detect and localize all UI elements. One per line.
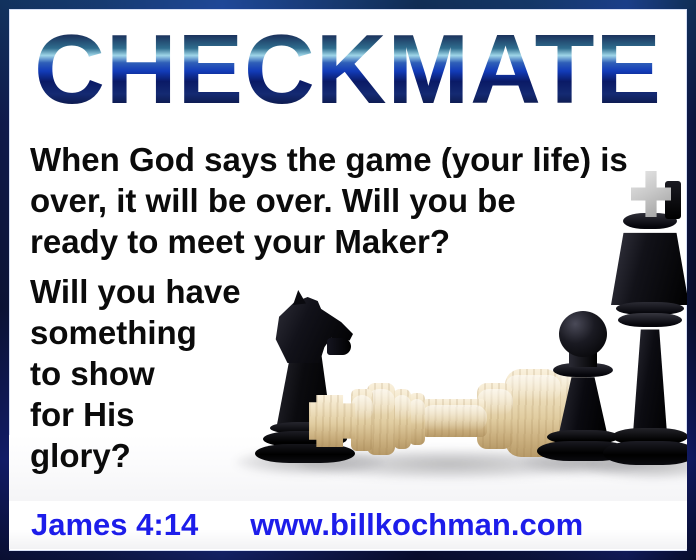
body-line: Will you have [30, 271, 280, 312]
knight-ear [293, 290, 306, 305]
fallen-king-stem [421, 399, 487, 437]
footer-bar: James 4:14 www.billkochman.com [9, 501, 687, 549]
fallen-king-ring-one [393, 389, 411, 449]
king-ring [618, 313, 682, 327]
fallen-king-bell [505, 369, 561, 457]
pawn-body [559, 371, 607, 433]
king-crown-shadow [665, 181, 681, 219]
knight-head [269, 297, 353, 363]
king-bell [611, 223, 687, 305]
pawn-base-upper [547, 430, 619, 444]
body-paragraph-wide: When God says the game (your life) is ov… [30, 139, 590, 262]
website-link[interactable]: www.billkochman.com [250, 507, 583, 543]
body-line: When God says the game (your life) is [30, 139, 590, 180]
knight-muzzle [327, 338, 351, 355]
body-line: something [30, 312, 280, 353]
pawn-neck [569, 351, 597, 367]
king-base [603, 441, 687, 465]
title-container: CHECKMATE [9, 17, 687, 121]
fallen-king-base [309, 395, 355, 447]
fallen-king-shadow [299, 449, 599, 479]
black-king-piece [603, 165, 687, 465]
body-line: over, it will be over. Will you be [30, 180, 590, 221]
pawn-base [537, 441, 629, 461]
body-line: ready to meet your Maker? [30, 221, 590, 262]
pawn-collar [553, 363, 613, 377]
fallen-king-neck [351, 389, 373, 451]
body-paragraph-narrow: Will you have something to show for His … [30, 271, 280, 476]
poster-inner-panel: CHECKMATE When God says the game (your l… [9, 9, 687, 551]
fallen-king-crown-end [553, 365, 587, 459]
scripture-reference: James 4:14 [31, 507, 198, 543]
pawn-head [559, 311, 607, 357]
black-king-shadow [585, 451, 687, 479]
fallen-white-king-piece [309, 361, 587, 461]
black-pawn-piece [537, 311, 629, 461]
poster-graphic: CHECKMATE When God says the game (your l… [0, 0, 696, 560]
page-title: CHECKMATE [34, 17, 662, 121]
king-base-upper [612, 428, 687, 445]
body-line: to show [30, 353, 280, 394]
king-crown-cross-icon [631, 171, 671, 217]
king-ring-upper [616, 302, 684, 315]
king-bell-top [623, 213, 677, 229]
knight-body [273, 348, 335, 426]
knight-collar [270, 422, 340, 434]
fallen-king-collar [367, 383, 395, 455]
body-line: for His [30, 394, 280, 435]
pawn-shadow [521, 449, 651, 475]
king-stem [629, 323, 671, 431]
fallen-king-shoulder [477, 383, 513, 449]
body-line: glory? [30, 435, 280, 476]
fallen-king-ring-two [409, 393, 425, 445]
